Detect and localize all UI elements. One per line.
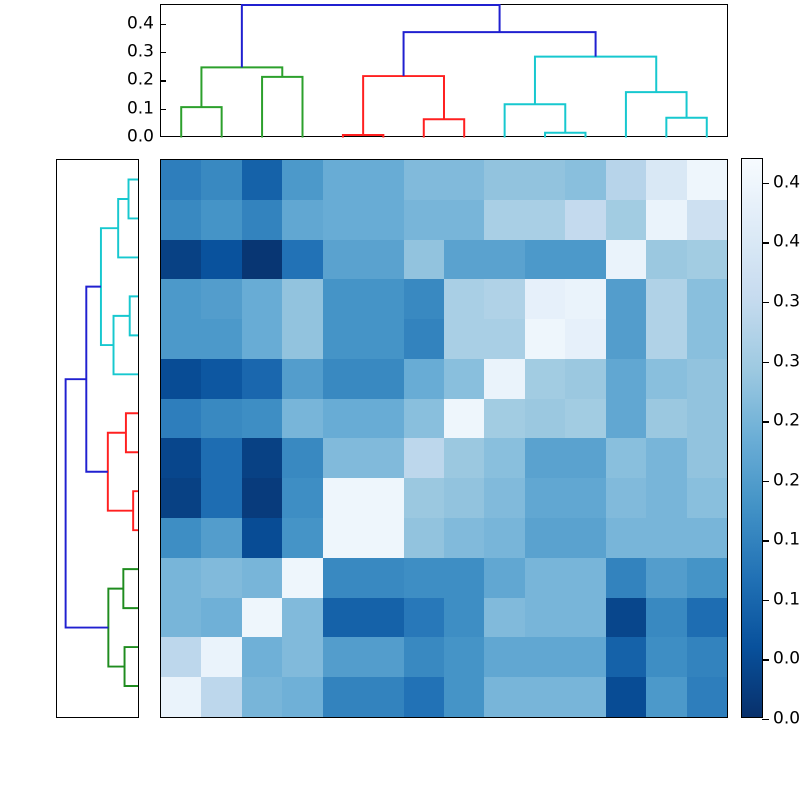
- dendrogram-link: [424, 119, 464, 137]
- heatmap-cells: [161, 160, 727, 717]
- colorbar-tickmark: [762, 242, 769, 243]
- heatmap-cell: [606, 558, 646, 598]
- colorbar-gradient: [742, 159, 762, 717]
- heatmap-cell: [242, 240, 282, 280]
- clustermap-figure: 0.00.10.20.30.4 0.000.050.100.150.200.25…: [0, 0, 800, 800]
- dendrogram-link: [126, 413, 138, 452]
- heatmap-cell: [444, 200, 484, 240]
- column-dendrogram: [160, 4, 728, 137]
- heatmap-cell: [282, 200, 322, 240]
- heatmap-cell: [282, 677, 322, 717]
- colorbar-tick-label: 0.35: [773, 293, 800, 310]
- heatmap-cell: [161, 677, 201, 717]
- dendrogram-link: [181, 107, 221, 137]
- heatmap-cell: [444, 359, 484, 399]
- colorbar-tick-label: 0.45: [773, 174, 800, 191]
- heatmap-cell: [282, 637, 322, 677]
- heatmap-cell: [484, 319, 524, 359]
- heatmap-cell: [565, 558, 605, 598]
- colorbar-tick-label: 0.40: [773, 234, 800, 251]
- heatmap-cell: [363, 399, 403, 439]
- heatmap-cell: [282, 478, 322, 518]
- heatmap-cell: [363, 359, 403, 399]
- heatmap-cell: [242, 279, 282, 319]
- dendrogram-link: [108, 589, 124, 667]
- heatmap-cell: [646, 359, 686, 399]
- heatmap-cell: [565, 478, 605, 518]
- colorbar-tickmark: [762, 362, 769, 363]
- colorbar-tickmark: [762, 302, 769, 303]
- heatmap-cell: [242, 438, 282, 478]
- colorbar-tickmark: [762, 719, 769, 720]
- heatmap-cell: [687, 240, 727, 280]
- dendrogram-link: [133, 491, 138, 530]
- heatmap-cell: [242, 598, 282, 638]
- heatmap-cell: [201, 240, 241, 280]
- heatmap-cell: [161, 359, 201, 399]
- heatmap-cell: [404, 359, 444, 399]
- colorbar-tick-label: 0.30: [773, 353, 800, 370]
- dendrogram-link: [404, 32, 596, 76]
- heatmap-cell: [282, 240, 322, 280]
- col-dendrogram-tick-label: 0.2: [127, 72, 154, 89]
- dendrogram-link: [535, 57, 656, 105]
- heatmap-cell: [201, 478, 241, 518]
- heatmap-cell: [484, 558, 524, 598]
- heatmap-cell: [687, 518, 727, 558]
- heatmap-cell: [444, 637, 484, 677]
- heatmap-cell: [646, 399, 686, 439]
- heatmap-cell: [606, 518, 646, 558]
- heatmap-cell: [161, 399, 201, 439]
- heatmap-cell: [525, 598, 565, 638]
- heatmap-cell: [444, 518, 484, 558]
- heatmap-cell: [484, 399, 524, 439]
- heatmap-cell: [646, 518, 686, 558]
- heatmap-cell: [161, 598, 201, 638]
- heatmap-cell: [484, 518, 524, 558]
- heatmap-cell: [687, 637, 727, 677]
- heatmap-cell: [484, 160, 524, 200]
- heatmap-cell: [646, 319, 686, 359]
- col-dendrogram-tick-label: 0.3: [127, 44, 154, 61]
- heatmap-cell: [323, 359, 363, 399]
- colorbar-tick-label: 0.00: [773, 711, 800, 728]
- heatmap-cell: [606, 279, 646, 319]
- heatmap-cell: [646, 279, 686, 319]
- heatmap-cell: [242, 399, 282, 439]
- colorbar-tickmark: [762, 600, 769, 601]
- heatmap-cell: [404, 518, 444, 558]
- dendrogram-link: [114, 316, 138, 374]
- colorbar-tickmark: [762, 659, 769, 660]
- heatmap-cell: [525, 518, 565, 558]
- dendrogram-link: [262, 77, 302, 138]
- heatmap-cell: [687, 598, 727, 638]
- heatmap-cell: [363, 279, 403, 319]
- heatmap-cell: [323, 319, 363, 359]
- heatmap-cell: [161, 438, 201, 478]
- colorbar: 0.000.050.100.150.200.250.300.350.400.45: [741, 158, 763, 718]
- heatmap-cell: [444, 160, 484, 200]
- heatmap-cell: [363, 598, 403, 638]
- heatmap-cell: [323, 240, 363, 280]
- heatmap-cell: [323, 558, 363, 598]
- heatmap-cell: [525, 279, 565, 319]
- heatmap-cell: [201, 677, 241, 717]
- heatmap-cell: [646, 438, 686, 478]
- heatmap-cell: [687, 319, 727, 359]
- heatmap-cell: [242, 518, 282, 558]
- heatmap-cell: [525, 319, 565, 359]
- heatmap-cell: [687, 677, 727, 717]
- colorbar-tick-label: 0.10: [773, 591, 800, 608]
- heatmap-cell: [282, 359, 322, 399]
- dendrogram-link: [626, 92, 687, 137]
- heatmap-cell: [646, 637, 686, 677]
- heatmap-cell: [323, 160, 363, 200]
- heatmap-cell: [201, 598, 241, 638]
- heatmap-cell: [646, 478, 686, 518]
- dendrogram-link: [101, 228, 118, 345]
- colorbar-tick-label: 0.25: [773, 413, 800, 430]
- col-dendrogram-tickmark: [160, 109, 166, 110]
- heatmap-cell: [242, 319, 282, 359]
- heatmap-cell: [282, 598, 322, 638]
- heatmap-cell: [201, 160, 241, 200]
- col-dendrogram-tickmark: [160, 80, 166, 81]
- col-dendrogram-tickmark: [160, 52, 166, 53]
- heatmap-cell: [565, 518, 605, 558]
- heatmap-cell: [565, 319, 605, 359]
- heatmap-cell: [565, 637, 605, 677]
- heatmap-cell: [687, 438, 727, 478]
- dendrogram-link: [545, 133, 585, 138]
- heatmap-cell: [606, 240, 646, 280]
- heatmap-cell: [525, 359, 565, 399]
- dendrogram-link: [108, 433, 133, 511]
- heatmap-cell: [687, 399, 727, 439]
- heatmap-cell: [201, 399, 241, 439]
- heatmap-cell: [484, 200, 524, 240]
- heatmap-cell: [525, 677, 565, 717]
- heatmap-cell: [404, 279, 444, 319]
- heatmap-cell: [404, 240, 444, 280]
- heatmap-cell: [363, 160, 403, 200]
- row-dendrogram: [56, 159, 139, 718]
- heatmap-cell: [161, 558, 201, 598]
- heatmap-cell: [242, 200, 282, 240]
- row-dendrogram-links: [57, 160, 138, 706]
- heatmap-cell: [323, 279, 363, 319]
- heatmap-cell: [646, 200, 686, 240]
- heatmap-cell: [404, 399, 444, 439]
- heatmap-cell: [161, 478, 201, 518]
- colorbar-tick-label: 0.15: [773, 532, 800, 549]
- heatmap-cell: [646, 160, 686, 200]
- heatmap-cell: [161, 637, 201, 677]
- dendrogram-link: [125, 647, 138, 686]
- heatmap-cell: [242, 677, 282, 717]
- colorbar-tick-label: 0.05: [773, 651, 800, 668]
- heatmap-cell: [404, 200, 444, 240]
- heatmap-cell: [565, 677, 605, 717]
- heatmap-cell: [525, 478, 565, 518]
- heatmap-cell: [201, 279, 241, 319]
- heatmap-cell: [363, 637, 403, 677]
- heatmap-cell: [282, 558, 322, 598]
- heatmap-cell: [363, 677, 403, 717]
- heatmap-cell: [282, 319, 322, 359]
- heatmap-cell: [282, 518, 322, 558]
- heatmap-cell: [404, 438, 444, 478]
- heatmap-cell: [444, 677, 484, 717]
- heatmap-cell: [363, 558, 403, 598]
- heatmap-cell: [201, 200, 241, 240]
- col-dendrogram-tick-label: 0.1: [127, 100, 154, 117]
- dendrogram-link: [130, 296, 138, 335]
- heatmap-cell: [565, 279, 605, 319]
- heatmap-cell: [242, 637, 282, 677]
- heatmap-cell: [444, 279, 484, 319]
- heatmap-cell: [525, 160, 565, 200]
- heatmap-cell: [525, 438, 565, 478]
- heatmap-cell: [282, 438, 322, 478]
- heatmap-cell: [606, 399, 646, 439]
- heatmap-cell: [565, 160, 605, 200]
- heatmap-cell: [161, 319, 201, 359]
- heatmap-cell: [404, 598, 444, 638]
- dendrogram-link: [343, 135, 383, 138]
- heatmap-cell: [444, 319, 484, 359]
- dendrogram-link: [86, 287, 108, 472]
- heatmap-cell: [363, 240, 403, 280]
- heatmap-cell: [282, 160, 322, 200]
- heatmap-cell: [201, 359, 241, 399]
- heatmap-cell: [565, 598, 605, 638]
- heatmap-cell: [201, 518, 241, 558]
- heatmap-cell: [161, 518, 201, 558]
- heatmap-cell: [606, 438, 646, 478]
- heatmap-cell: [444, 438, 484, 478]
- heatmap-cell: [484, 598, 524, 638]
- colorbar-tickmark: [762, 540, 769, 541]
- heatmap-cell: [404, 160, 444, 200]
- heatmap-cell: [242, 478, 282, 518]
- heatmap-cell: [606, 598, 646, 638]
- heatmap-cell: [201, 637, 241, 677]
- heatmap-cell: [404, 558, 444, 598]
- heatmap-cell: [565, 200, 605, 240]
- heatmap-cell: [323, 677, 363, 717]
- heatmap-cell: [201, 319, 241, 359]
- heatmap-cell: [687, 160, 727, 200]
- heatmap-cell: [646, 598, 686, 638]
- heatmap-cell: [484, 240, 524, 280]
- heatmap-cell: [565, 240, 605, 280]
- col-dendrogram-tickmark: [160, 24, 166, 25]
- colorbar-tick-label: 0.20: [773, 472, 800, 489]
- col-dendrogram-tick-label: 0.0: [127, 129, 154, 146]
- heatmap-cell: [242, 359, 282, 399]
- heatmap-cell: [363, 518, 403, 558]
- heatmap-cell: [323, 598, 363, 638]
- heatmap-cell: [444, 598, 484, 638]
- heatmap-cell: [323, 637, 363, 677]
- heatmap-cell: [525, 399, 565, 439]
- heatmap-cell: [323, 518, 363, 558]
- heatmap-cell: [201, 558, 241, 598]
- dendrogram-link: [123, 569, 138, 608]
- heatmap-matrix[interactable]: [160, 159, 728, 718]
- heatmap-cell: [687, 359, 727, 399]
- heatmap-cell: [161, 240, 201, 280]
- heatmap-cell: [484, 677, 524, 717]
- heatmap-cell: [161, 200, 201, 240]
- heatmap-cell: [525, 558, 565, 598]
- heatmap-cell: [646, 240, 686, 280]
- heatmap-cell: [687, 478, 727, 518]
- col-dendrogram-tick-label: 0.4: [127, 15, 154, 32]
- dendrogram-link: [666, 118, 706, 138]
- heatmap-cell: [606, 200, 646, 240]
- heatmap-cell: [525, 637, 565, 677]
- dendrogram-link: [201, 67, 282, 107]
- heatmap-cell: [606, 637, 646, 677]
- heatmap-cell: [484, 637, 524, 677]
- heatmap-cell: [565, 438, 605, 478]
- column-dendrogram-links: [161, 5, 727, 138]
- heatmap-cell: [404, 677, 444, 717]
- heatmap-cell: [565, 399, 605, 439]
- heatmap-cell: [282, 279, 322, 319]
- heatmap-cell: [606, 478, 646, 518]
- heatmap-cell: [201, 438, 241, 478]
- heatmap-cell: [323, 478, 363, 518]
- colorbar-tickmark: [762, 421, 769, 422]
- dendrogram-link: [129, 179, 138, 218]
- heatmap-cell: [525, 240, 565, 280]
- heatmap-cell: [161, 279, 201, 319]
- heatmap-cell: [282, 399, 322, 439]
- heatmap-cell: [323, 200, 363, 240]
- heatmap-cell: [323, 399, 363, 439]
- heatmap-cell: [161, 160, 201, 200]
- heatmap-cell: [363, 478, 403, 518]
- dendrogram-link: [363, 76, 444, 135]
- heatmap-cell: [404, 319, 444, 359]
- colorbar-tickmark: [762, 481, 769, 482]
- heatmap-cell: [363, 319, 403, 359]
- heatmap-cell: [444, 240, 484, 280]
- heatmap-cell: [484, 279, 524, 319]
- heatmap-cell: [323, 438, 363, 478]
- heatmap-cell: [606, 160, 646, 200]
- heatmap-cell: [565, 359, 605, 399]
- heatmap-cell: [363, 438, 403, 478]
- heatmap-cell: [242, 558, 282, 598]
- heatmap-cell: [687, 279, 727, 319]
- dendrogram-link: [242, 5, 500, 67]
- colorbar-tickmark: [762, 183, 769, 184]
- heatmap-cell: [606, 677, 646, 717]
- heatmap-cell: [444, 399, 484, 439]
- heatmap-cell: [687, 200, 727, 240]
- heatmap-cell: [484, 438, 524, 478]
- heatmap-cell: [606, 319, 646, 359]
- heatmap-cell: [444, 478, 484, 518]
- heatmap-cell: [525, 200, 565, 240]
- heatmap-cell: [404, 478, 444, 518]
- col-dendrogram-axis-labels: 0.00.10.20.30.4: [96, 4, 154, 137]
- heatmap-cell: [404, 637, 444, 677]
- heatmap-cell: [444, 558, 484, 598]
- heatmap-cell: [363, 200, 403, 240]
- heatmap-cell: [484, 359, 524, 399]
- heatmap-cell: [484, 478, 524, 518]
- heatmap-cell: [646, 558, 686, 598]
- heatmap-cell: [242, 160, 282, 200]
- heatmap-cell: [606, 359, 646, 399]
- heatmap-cell: [646, 677, 686, 717]
- heatmap-cell: [687, 558, 727, 598]
